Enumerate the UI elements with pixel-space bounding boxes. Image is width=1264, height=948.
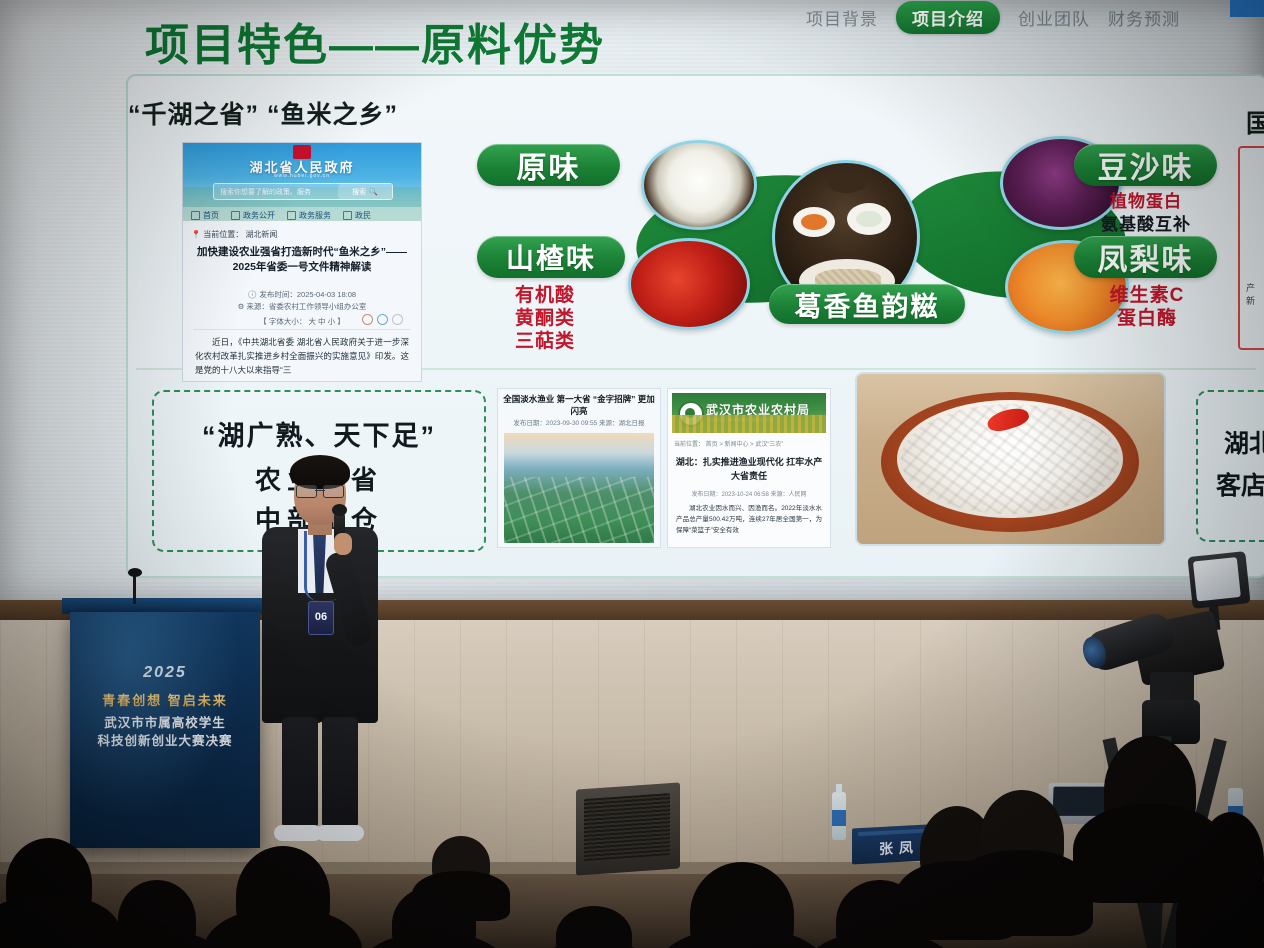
food-photo-original-flavor [641, 140, 757, 230]
gov-website-screenshot: 湖北省人民政府 www.hubei.gov.cn 搜索你想要了解的政策、服务 搜… [182, 142, 422, 382]
source-icon: ⚙ [238, 302, 245, 311]
audience-silhouette [1104, 736, 1196, 846]
gov-menu-item-home[interactable]: 首页 [191, 210, 219, 221]
pin-icon: 📍 [191, 230, 201, 239]
gov-source-value: 省委农村工作领导小组办公室 [269, 302, 367, 311]
podium-org-line-1: 武汉市市属高校学生 [70, 712, 260, 731]
news-2-site-name: 武汉市农业农村局 [706, 401, 810, 418]
note-red-bean-line-1: 植物蛋白 [1077, 190, 1215, 213]
stage-monitor-speaker [576, 782, 680, 875]
left-headline: “千湖之省” “鱼米之乡” [128, 95, 458, 131]
note-hawthorn-line-3: 三萜类 [500, 330, 590, 353]
gov-search-input[interactable]: 搜索你想要了解的政策、服务 搜索 🔍 [213, 183, 393, 200]
gov-search-button-label: 搜索 [352, 187, 366, 197]
chat-icon [343, 211, 352, 220]
podium-year: 2025 [70, 664, 260, 682]
gov-search-button[interactable]: 搜索 🔍 [338, 184, 392, 199]
presenter-badge: 06 [308, 601, 334, 635]
microphone-icon [128, 568, 142, 577]
gov-nav-menu[interactable]: 首页 政务公开 政务服务 政民 [183, 207, 421, 223]
podium-slogan: 青春创想 智启未来 [70, 690, 260, 709]
gov-menu-item-interaction[interactable]: 政民 [343, 210, 371, 221]
water-bottle-1 [832, 792, 846, 840]
news-2-paragraph: 湖北农业因水而兴、因渔而名。2022年淡水水产品总产量500.42万吨，连续27… [676, 503, 822, 536]
camera-led-light [1187, 551, 1250, 609]
tab-financial-forecast[interactable]: 财务预测 [1108, 5, 1180, 30]
news-2-headline: 湖北：扎实推进渔业现代化 扛牢水产大省责任 [674, 455, 824, 483]
right-headline-cutoff: 国 [1246, 104, 1264, 140]
note-hawthorn-line-2: 黄酮类 [500, 307, 590, 330]
presenter-leg-left [282, 717, 318, 829]
gov-breadcrumb: 📍 当前位置： 湖北新闻 [191, 229, 277, 240]
right-red-box-line-1: 产 [1246, 282, 1255, 295]
news-1-headline: 全国淡水渔业 第一大省 “金字招牌” 更加闪亮 [502, 393, 656, 417]
led-light-panel [1193, 557, 1241, 601]
news-2-site-url: nyncj.wuhan.gov.cn [708, 417, 774, 423]
platter-dish-1 [793, 207, 835, 237]
note-pineapple-line-2: 蛋白酶 [1082, 307, 1212, 330]
podium-org-line-2: 科技创新创业大赛决赛 [70, 730, 260, 749]
gov-publish-label: 发布时间： [259, 290, 297, 299]
right-dashed-line-1: 湖北 [1224, 424, 1264, 460]
news-2-banner: 武汉市农业农村局 nyncj.wuhan.gov.cn [672, 393, 826, 433]
presenter-shoe-right [316, 825, 364, 841]
presenter-leg-right [322, 717, 358, 829]
gov-source: ⚙ 来源：省委农村工作领导小组办公室 [183, 301, 421, 313]
right-red-bordered-box [1238, 146, 1264, 350]
news-clipping-wuhan-agriculture: 武汉市农业农村局 nyncj.wuhan.gov.cn 当前位置： 首页 > 新… [667, 388, 831, 548]
presenter-badge-number: 06 [309, 611, 333, 623]
gov-article-paragraph: 近日，《中共湖北省委 湖北省人民政府关于进一步深化农村改革扎实推进乡村全面振兴的… [195, 335, 409, 377]
gov-menu-item-services[interactable]: 政务服务 [287, 210, 331, 221]
gov-article-body: 📍 当前位置： 湖北新闻 加快建设农业强省打造新时代“鱼米之乡”——2025年省… [183, 223, 421, 381]
bottle-label-1 [832, 810, 846, 826]
flavor-pill-hawthorn: 山楂味 [477, 236, 625, 278]
presenter-shoe-left [274, 825, 322, 841]
right-dashed-line-2: 客店 [1216, 466, 1264, 502]
audience-silhouette [432, 836, 490, 892]
tab-project-introduction[interactable]: 项目介绍 [896, 1, 1000, 34]
clock-icon: 🕔 [248, 290, 257, 299]
gov-divider [193, 329, 411, 330]
nav-blue-marker [1230, 0, 1264, 17]
right-red-box-text: 产 新 [1246, 282, 1255, 308]
note-hawthorn-line-1: 有机酸 [500, 284, 590, 307]
wuhan-agriculture-logo-icon [678, 401, 704, 427]
product-name-pill: 葛香鱼韵糍 [769, 284, 965, 324]
product-photo-bowl [855, 372, 1166, 546]
gov-source-label: 来源： [246, 302, 269, 311]
audience-silhouette [236, 846, 330, 946]
right-red-box-line-2: 新 [1246, 295, 1255, 308]
gov-menu-item-disclosure[interactable]: 政务公开 [231, 210, 275, 221]
note-pineapple-nutrients: 维生素C 蛋白酶 [1082, 284, 1212, 330]
home-icon [191, 211, 200, 220]
print-icon[interactable] [392, 314, 403, 325]
gov-breadcrumb-label: 当前位置： [203, 230, 243, 239]
weibo-icon[interactable] [362, 314, 373, 325]
flavor-pill-pineapple: 凤梨味 [1074, 236, 1217, 278]
news-1-meta: 发布日期：2023-09-30 09:55 来源：湖北日报 [502, 417, 656, 427]
gear-icon [287, 211, 296, 220]
document-icon [231, 211, 240, 220]
news-1-photo-aerial-fishponds [504, 433, 654, 543]
gov-breadcrumb-value: 湖北新闻 [245, 230, 277, 239]
audience-silhouette [1198, 812, 1264, 912]
gov-article-meta: 🕔 发布时间：2025-04-03 18:08 ⚙ 来源：省委农村工作领导小组办… [183, 289, 421, 313]
flavor-pill-red-bean: 豆沙味 [1074, 144, 1217, 186]
gov-publish-time: 🕔 发布时间：2025-04-03 18:08 [183, 289, 421, 301]
eyeglasses-icon [296, 485, 344, 496]
platter-dish-2 [847, 203, 891, 235]
tab-startup-team[interactable]: 创业团队 [1018, 5, 1090, 30]
news-2-meta: 发布日期：2023-10-24 06:58 来源：人民网 [674, 489, 824, 498]
gov-site-url: www.hubei.gov.cn [183, 173, 421, 179]
speaker-grill [584, 793, 670, 861]
screenshot-root: 项目背景 项目介绍 创业团队 财务预测 项目特色——原料优势 “千湖之省” “鱼… [0, 0, 1264, 948]
wechat-icon[interactable] [377, 314, 388, 325]
slide-nav-tabs[interactable]: 项目背景 项目介绍 创业团队 财务预测 [806, 0, 1264, 34]
quote-line-1: “湖广熟、天下足” [154, 414, 484, 453]
tab-project-background[interactable]: 项目背景 [806, 5, 878, 30]
page-title: 项目特色——原料优势 [145, 9, 605, 73]
flavor-pill-original: 原味 [477, 144, 620, 186]
presenter: 06 [250, 455, 380, 845]
gov-article-title: 加快建设农业强省打造新时代“鱼米之乡”——2025年省委一号文件精神解读 [195, 245, 409, 275]
audience-silhouette [980, 790, 1064, 886]
presenter-legs [276, 717, 362, 835]
note-hawthorn-nutrients: 有机酸 黄酮类 三萜类 [500, 284, 590, 353]
note-pineapple-line-1: 维生素C [1082, 284, 1212, 307]
note-red-bean-nutrients: 植物蛋白 氨基酸互补 [1077, 190, 1215, 236]
platter-top-detail [827, 171, 867, 193]
food-photo-hawthorn-flavor [628, 238, 750, 330]
gov-share-icons[interactable] [362, 314, 403, 325]
audience-silhouette [6, 838, 92, 930]
news-clipping-hubei-daily: 全国淡水渔业 第一大省 “金字招牌” 更加闪亮 发布日期：2023-09-30 … [497, 388, 661, 548]
gov-search-placeholder: 搜索你想要了解的政策、服务 [220, 187, 311, 197]
presenter-hand [334, 533, 352, 555]
gov-publish-value: 2025-04-03 18:08 [297, 290, 356, 299]
note-red-bean-line-2: 氨基酸互补 [1077, 213, 1215, 236]
presenter-hair [290, 455, 350, 489]
news-2-breadcrumb: 当前位置： 首页 > 新闻中心 > 武汉“三农” [674, 439, 824, 448]
search-icon: 🔍 [369, 188, 378, 196]
